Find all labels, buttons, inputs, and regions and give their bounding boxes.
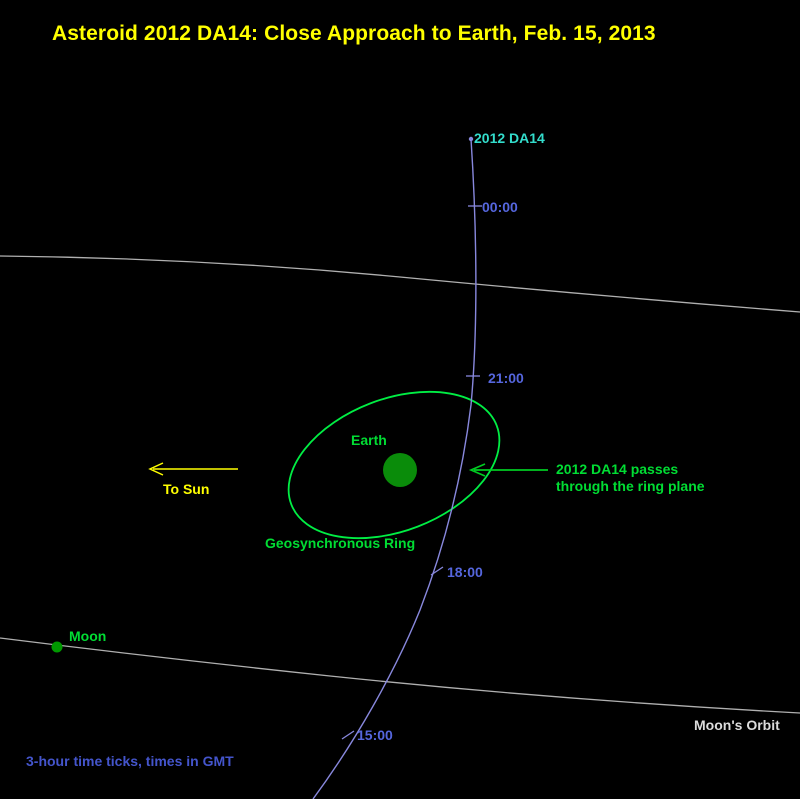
to-sun-label: To Sun: [163, 481, 209, 498]
geosynchronous-ring-label: Geosynchronous Ring: [265, 535, 415, 552]
asteroid-label: 2012 DA14: [474, 130, 545, 147]
earth-disk: [383, 453, 417, 487]
moon-dot: [52, 642, 63, 653]
time-label-2100: 21:00: [488, 370, 524, 387]
asteroid-start-point: [469, 137, 473, 141]
moons-orbit-lower-arc: [0, 638, 800, 713]
time-ticks-footnote: 3-hour time ticks, times in GMT: [26, 753, 234, 770]
earth-label: Earth: [351, 432, 387, 449]
time-tick-1800: [431, 567, 443, 575]
moons-orbit-label: Moon's Orbit: [694, 717, 780, 734]
moon-label: Moon: [69, 628, 106, 645]
time-tick-1500: [342, 731, 354, 739]
diagram-canvas: [0, 0, 800, 799]
ring-plane-annotation: 2012 DA14 passes through the ring plane: [556, 461, 705, 495]
ring-plane-annotation-line1: 2012 DA14 passes: [556, 461, 705, 478]
asteroid-close-approach-diagram: Asteroid 2012 DA14: Close Approach to Ea…: [0, 0, 800, 799]
time-label-0000: 00:00: [482, 199, 518, 216]
ring-plane-annotation-line2: through the ring plane: [556, 478, 705, 495]
time-label-1800: 18:00: [447, 564, 483, 581]
page-title: Asteroid 2012 DA14: Close Approach to Ea…: [52, 21, 656, 47]
moons-orbit-upper-arc: [0, 256, 800, 312]
time-label-1500: 15:00: [357, 727, 393, 744]
